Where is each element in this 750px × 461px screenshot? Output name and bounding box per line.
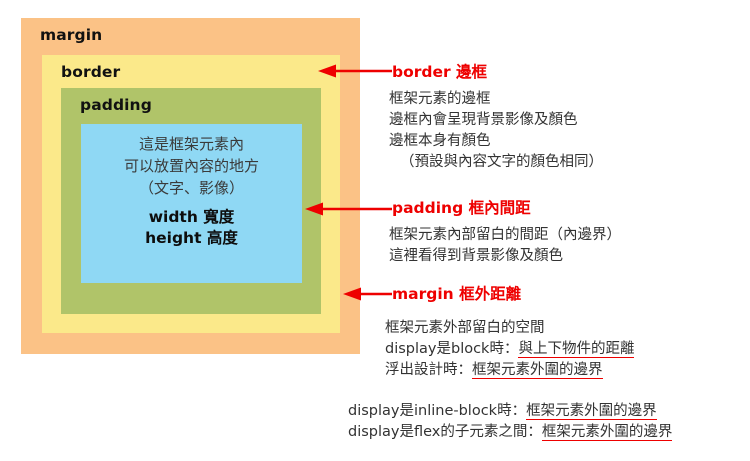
annotation-border-line-1: 框架元素的邊框 <box>389 89 603 110</box>
border-layer-label: border <box>61 63 120 81</box>
content-line-1: 這是框架元素內 <box>139 133 244 155</box>
footnote-flex-underlined: 框架元素外圍的邊界 <box>542 424 673 441</box>
box-model-diagram: margin border padding 這是框架元素內 可以放置內容的地方 … <box>21 18 360 354</box>
margin-float-prefix: 浮出設計時： <box>385 362 472 378</box>
footnote-line-2: display是flex的子元素之間：框架元素外圍的邊界 <box>348 422 672 443</box>
content-height-label: height 高度 <box>145 228 238 249</box>
annotation-padding-line-2: 這裡看得到背景影像及顏色 <box>389 246 621 267</box>
margin-layer-label: margin <box>40 26 102 44</box>
content-line-2: 可以放置內容的地方 <box>124 155 259 177</box>
annotation-body-margin: 框架元素外部留白的空間 display是block時：與上下物件的距離 浮出設計… <box>385 318 634 381</box>
annotation-border-line-4: （預設與內容文字的顏色相同） <box>389 152 603 173</box>
footnotes: display是inline-block時：框架元素外圍的邊界 display是… <box>348 401 672 443</box>
content-width-label: width 寬度 <box>145 207 238 228</box>
footnote-line-1: display是inline-block時：框架元素外圍的邊界 <box>348 401 672 422</box>
annotation-padding-line-1: 框架元素內部留白的間距（內邊界） <box>389 225 621 246</box>
margin-block-prefix: display是block時： <box>385 341 518 357</box>
annotation-margin-line-1: 框架元素外部留白的空間 <box>385 318 634 339</box>
footnote-inline-block-underlined: 框架元素外圍的邊界 <box>526 403 657 420</box>
margin-block-underlined: 與上下物件的距離 <box>518 341 634 358</box>
annotation-body-padding: 框架元素內部留白的間距（內邊界） 這裡看得到背景影像及顏色 <box>389 225 621 267</box>
annotation-border-line-2: 邊框內會呈現背景影像及顏色 <box>389 110 603 131</box>
footnote-inline-block-prefix: display是inline-block時： <box>348 403 526 419</box>
annotation-heading-border: border 邊框 <box>392 60 487 82</box>
annotation-margin-line-2: display是block時：與上下物件的距離 <box>385 339 634 360</box>
annotation-heading-margin: margin 框外距離 <box>392 282 521 304</box>
footnote-flex-prefix: display是flex的子元素之間： <box>348 424 542 440</box>
annotation-body-border: 框架元素的邊框 邊框內會呈現背景影像及顏色 邊框本身有顏色 （預設與內容文字的顏… <box>389 89 603 173</box>
padding-layer-label: padding <box>80 96 152 114</box>
content-layer: 這是框架元素內 可以放置內容的地方 （文字、影像） width 寬度 heigh… <box>81 124 302 283</box>
annotation-border-line-3: 邊框本身有顏色 <box>389 131 603 152</box>
annotation-margin-line-3: 浮出設計時：框架元素外圍的邊界 <box>385 360 634 381</box>
annotation-heading-padding: padding 框內間距 <box>392 196 531 218</box>
margin-float-underlined: 框架元素外圍的邊界 <box>472 362 603 379</box>
content-line-3: （文字、影像） <box>139 177 244 199</box>
content-dimensions: width 寬度 height 高度 <box>145 207 238 249</box>
